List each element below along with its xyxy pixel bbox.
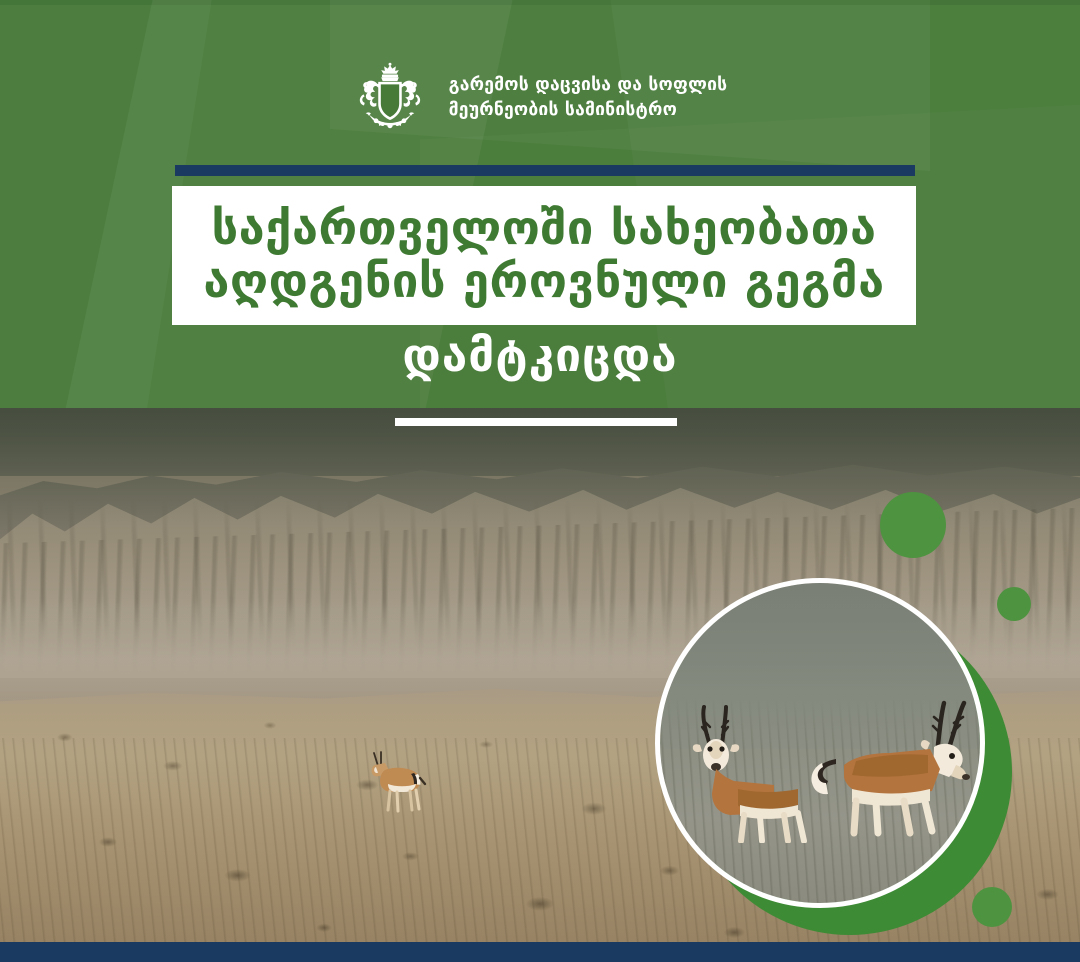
inset-white-ring bbox=[655, 578, 985, 908]
subtitle-text: დამტკიცდა bbox=[0, 330, 1080, 381]
circular-inset bbox=[655, 578, 1015, 938]
ministry-name-text: გარემოს დაცვისა და სოფლის მეურნეობის სამ… bbox=[449, 73, 728, 123]
title-line-2: აღდგენის ეროვნული გეგმა bbox=[203, 256, 884, 309]
georgian-coat-of-arms-icon bbox=[353, 62, 427, 134]
title-box: საქართველოში სახეობათა აღდგენის ეროვნული… bbox=[172, 186, 916, 325]
title-line-1: საქართველოში სახეობათა bbox=[211, 203, 876, 256]
green-header-panel: გარემოს დაცვისა და სოფლის მეურნეობის სამ… bbox=[0, 0, 1080, 409]
ministry-lockup: გარემოს დაცვისა და სოფლის მეურნეობის სამ… bbox=[0, 62, 1080, 134]
bottom-navy-bar bbox=[0, 942, 1080, 962]
gazelle-main-icon bbox=[352, 748, 440, 816]
green-dot-large bbox=[880, 492, 946, 558]
top-edge-rule bbox=[0, 0, 1080, 5]
title-accent-bar bbox=[175, 165, 915, 176]
poster-root: გარემოს დაცვისა და სოფლის მეურნეობის სამ… bbox=[0, 0, 1080, 962]
subtitle-divider bbox=[395, 418, 677, 426]
